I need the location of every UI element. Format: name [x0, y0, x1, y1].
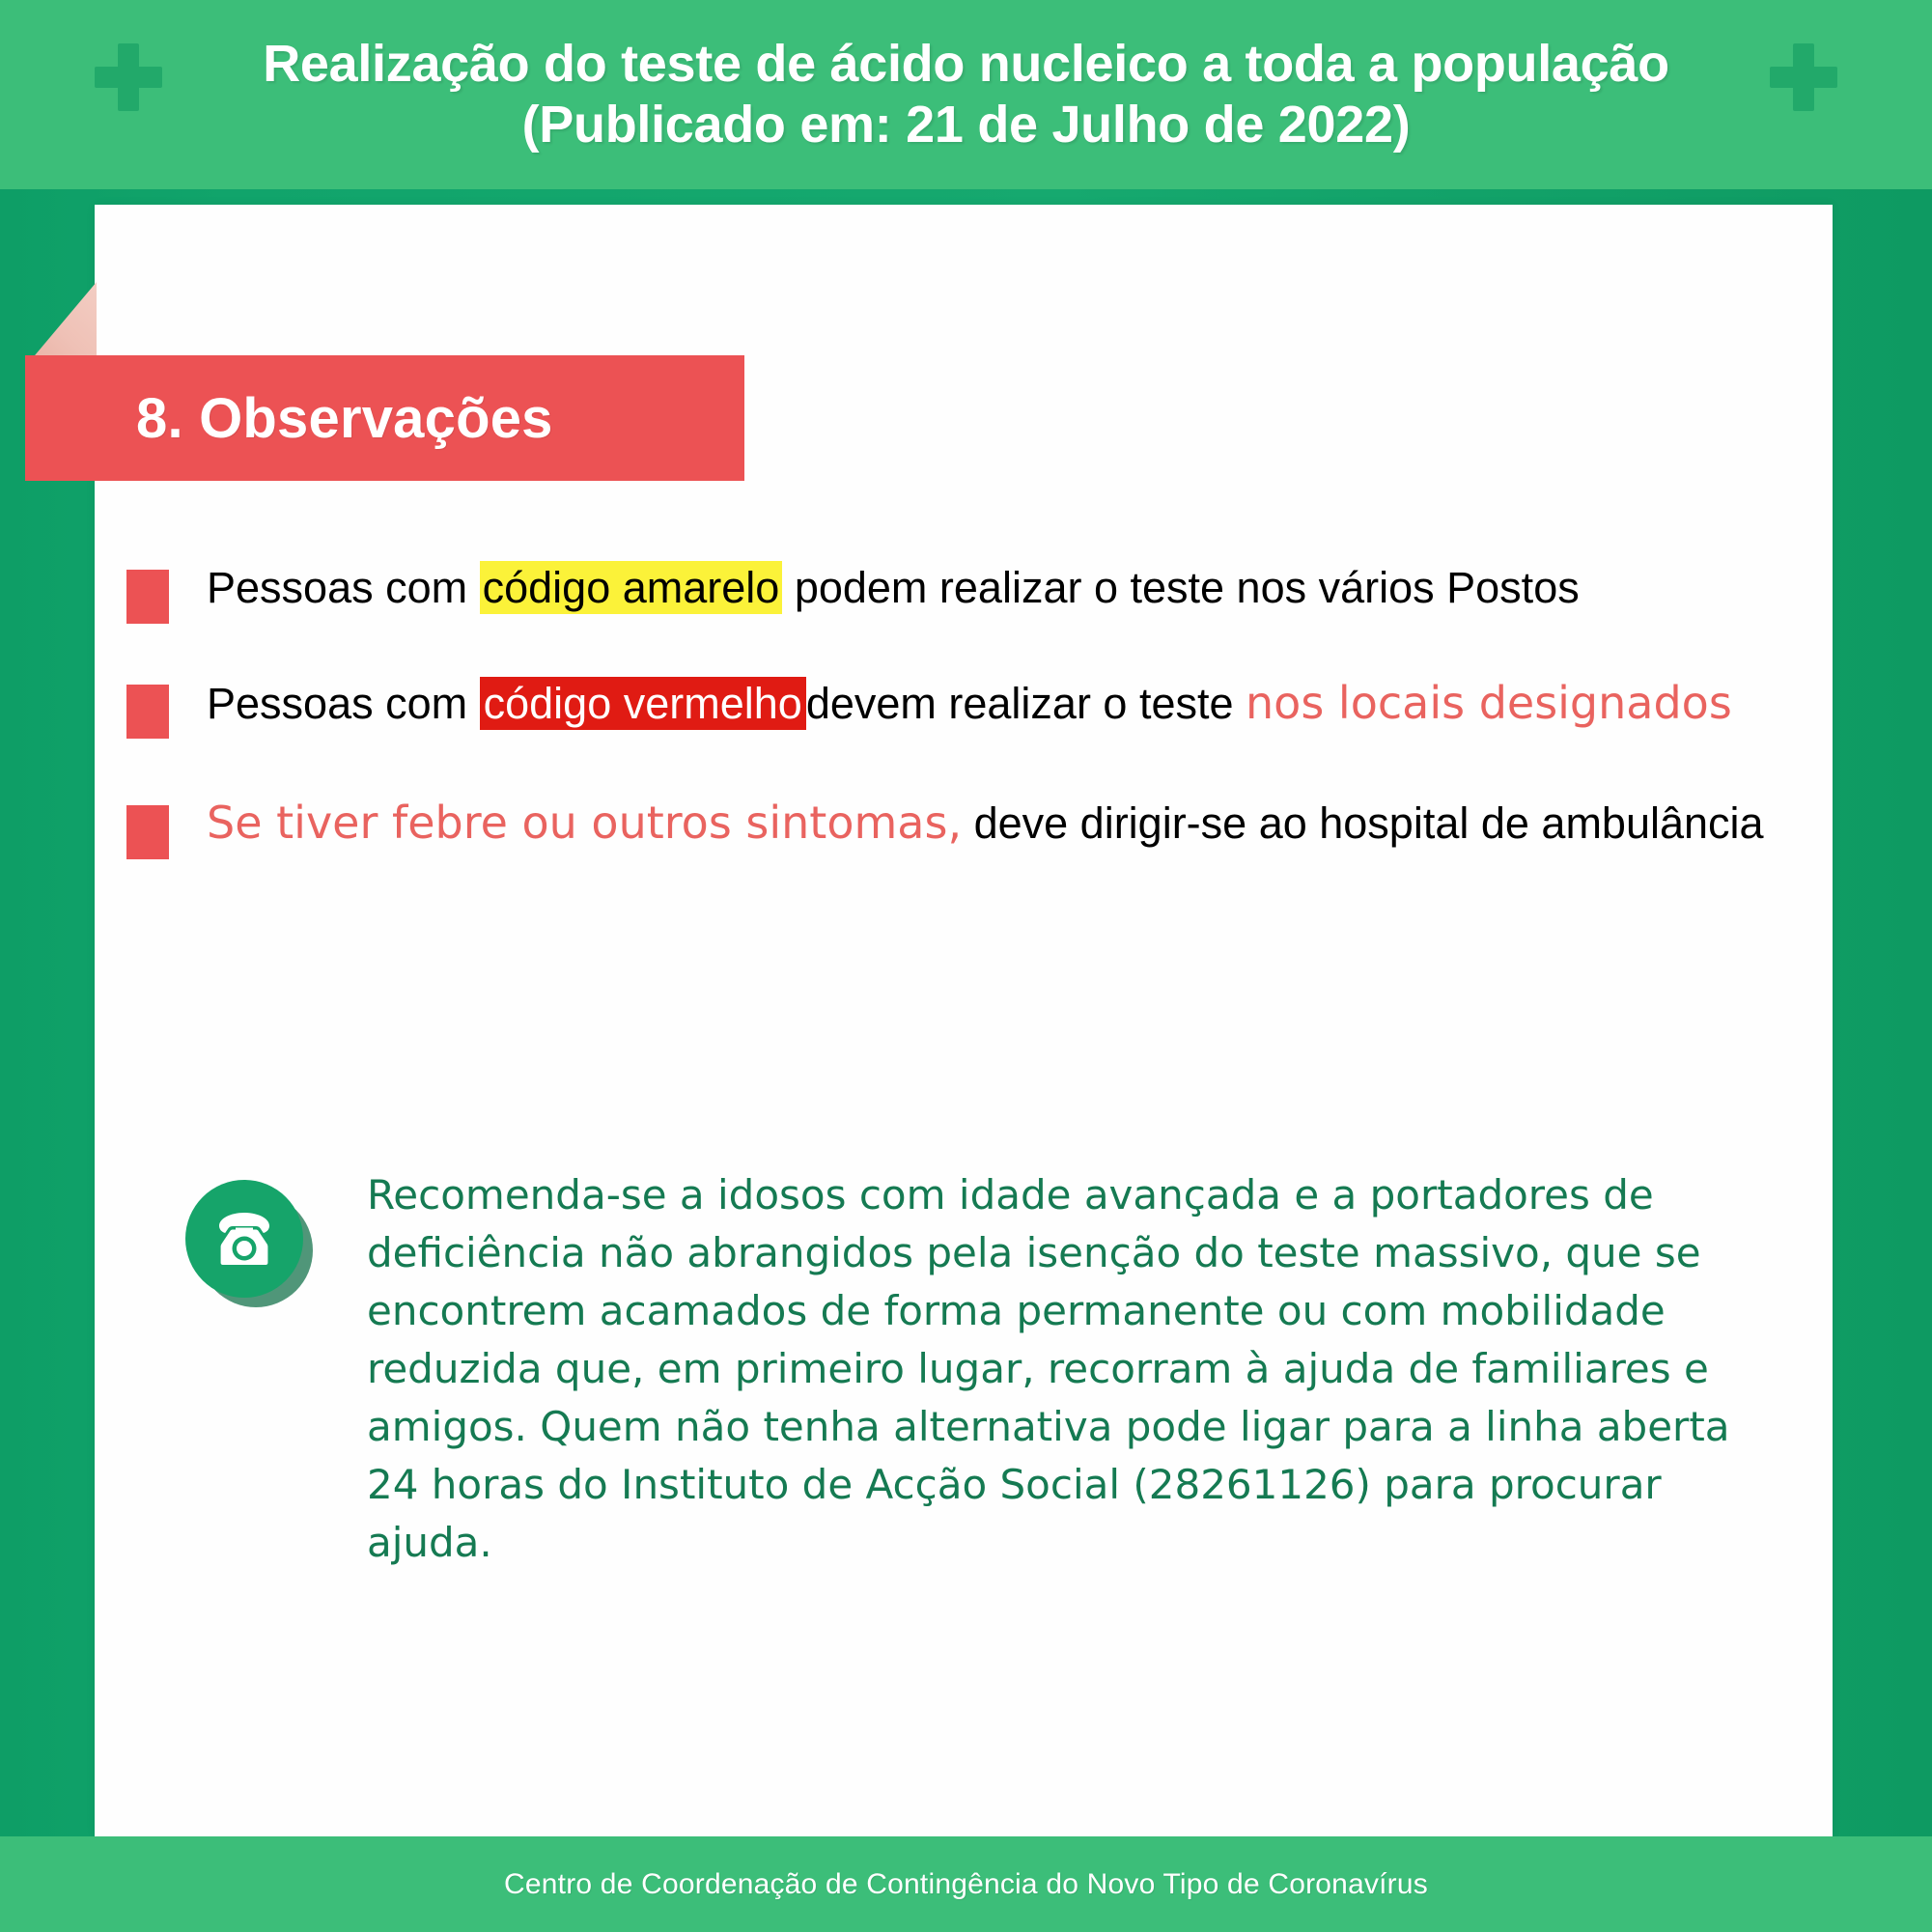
- bullet-2-part-1: Pessoas com: [207, 679, 480, 728]
- observations-list: Pessoas com código amarelo podem realiza…: [126, 560, 1797, 852]
- hotline-note-text: Recomenda-se a idosos com idade avançada…: [367, 1166, 1769, 1572]
- page-title: Realização do teste de ácido nucleico a …: [263, 34, 1669, 155]
- infographic-poster: Realização do teste de ácido nucleico a …: [0, 0, 1932, 1932]
- bullet-1-highlight-yellow: código amarelo: [480, 561, 783, 614]
- bullet-marker-icon: [126, 805, 169, 859]
- list-item-text: Se tiver febre ou outros sintomas, deve …: [207, 796, 1797, 852]
- bullet-3-part-2: deve dirigir-se ao hospital de ambulânci…: [962, 798, 1763, 848]
- section-title: 8. Observações: [25, 386, 553, 451]
- header-band: Realização do teste de ácido nucleico a …: [0, 0, 1932, 189]
- bullet-marker-icon: [126, 685, 169, 739]
- list-item-text: Pessoas com código amarelo podem realiza…: [207, 560, 1797, 617]
- list-item-text: Pessoas com código vermelhodevem realiza…: [207, 675, 1797, 733]
- medical-cross-icon-right: [1770, 43, 1837, 111]
- list-item: Se tiver febre ou outros sintomas, deve …: [126, 796, 1797, 852]
- footer-band: Centro de Coordenação de Contingência do…: [0, 1836, 1932, 1932]
- bullet-marker-icon: [126, 570, 169, 624]
- bullet-2-part-3: devem realizar o teste: [806, 679, 1246, 728]
- list-item: Pessoas com código amarelo podem realiza…: [126, 560, 1797, 617]
- bullet-2-highlight-red: código vermelho: [480, 677, 806, 730]
- hotline-note: Recomenda-se a idosos com idade avançada…: [185, 1166, 1769, 1572]
- medical-cross-icon-left: [95, 43, 162, 111]
- section-ribbon: 8. Observações: [25, 355, 744, 481]
- bullet-1-part-1: Pessoas com: [207, 563, 480, 612]
- telephone-icon: [185, 1180, 309, 1303]
- footer-text: Centro de Coordenação de Contingência do…: [504, 1868, 1428, 1901]
- bullet-3-emphasis: Se tiver febre ou outros sintomas,: [207, 797, 962, 849]
- bullet-2-emphasis: nos locais designados: [1246, 677, 1732, 729]
- page-title-line1: Realização do teste de ácido nucleico a …: [263, 35, 1669, 93]
- list-item: Pessoas com código vermelhodevem realiza…: [126, 675, 1797, 733]
- page-title-line2: (Publicado em: 21 de Julho de 2022): [263, 95, 1669, 155]
- bullet-1-part-3: podem realizar o teste nos vários Postos: [782, 563, 1579, 612]
- telephone-icon-circle: [185, 1180, 303, 1298]
